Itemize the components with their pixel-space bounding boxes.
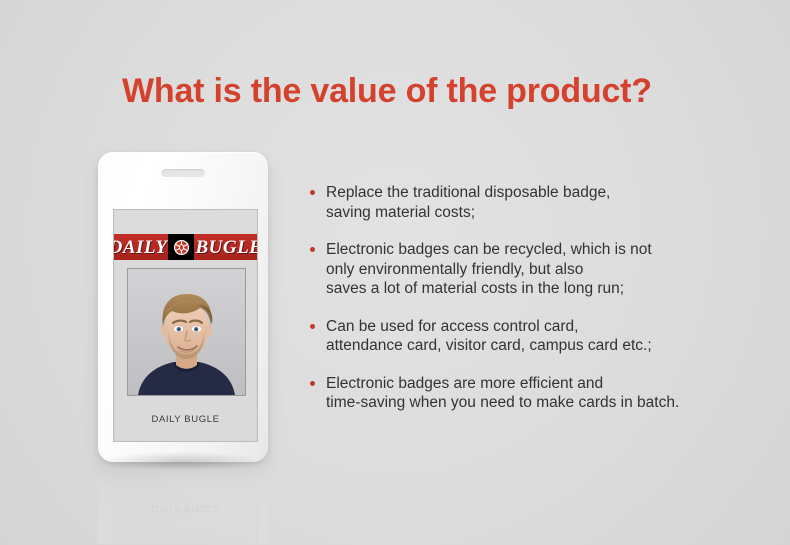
bullet-line: Can be used for access control card, <box>326 317 760 337</box>
badge-portrait-photo <box>127 268 246 396</box>
bullet-line: time-saving when you need to make cards … <box>326 393 760 413</box>
bullet-line: Electronic badges can be recycled, which… <box>326 240 760 260</box>
masthead-word-right: BUGLE <box>195 238 257 257</box>
bullet-line: only environmentally friendly, but also <box>326 260 760 280</box>
list-item: Can be used for access control card, att… <box>310 317 760 356</box>
electronic-badge-device: DAILY BUGLE <box>98 152 268 462</box>
reflection-screen: DAILY BUGLE <box>113 486 258 544</box>
badge-reflection: DAILY BUGLE <box>98 464 268 544</box>
masthead-word-left: DAILY <box>114 238 167 257</box>
bullet-line: saving material costs; <box>326 203 760 223</box>
list-item: Electronic badges can be recycled, which… <box>310 240 760 299</box>
slide-canvas: What is the value of the product? DAILY … <box>0 0 790 545</box>
bullet-line: saves a lot of material costs in the lon… <box>326 279 760 299</box>
list-item: Electronic badges are more efficient and… <box>310 374 760 413</box>
bullet-dot-icon <box>310 381 315 386</box>
bullet-dot-icon <box>310 190 315 195</box>
bullet-dot-icon <box>310 324 315 329</box>
bullet-line: Replace the traditional disposable badge… <box>326 183 760 203</box>
screen-top-band <box>114 210 257 234</box>
reflection-photo <box>127 532 246 544</box>
reflection-body: DAILY BUGLE <box>98 464 268 544</box>
bullet-line: Electronic badges are more efficient and <box>326 374 760 394</box>
list-item: Replace the traditional disposable badge… <box>310 183 760 222</box>
page-title: What is the value of the product? <box>122 72 652 111</box>
bullet-line: attendance card, visitor card, campus ca… <box>326 336 760 356</box>
bullet-dot-icon <box>310 247 315 252</box>
badge-lanyard-slot <box>162 169 205 177</box>
badge-caption: DAILY BUGLE <box>114 414 257 425</box>
spider-emblem-icon <box>168 234 194 260</box>
daily-bugle-masthead: DAILY BUGLE <box>114 234 257 260</box>
badge-eink-screen: DAILY BUGLE <box>113 209 258 442</box>
reflection-caption: DAILY BUGLE <box>114 503 257 514</box>
value-points-list: Replace the traditional disposable badge… <box>310 183 760 413</box>
